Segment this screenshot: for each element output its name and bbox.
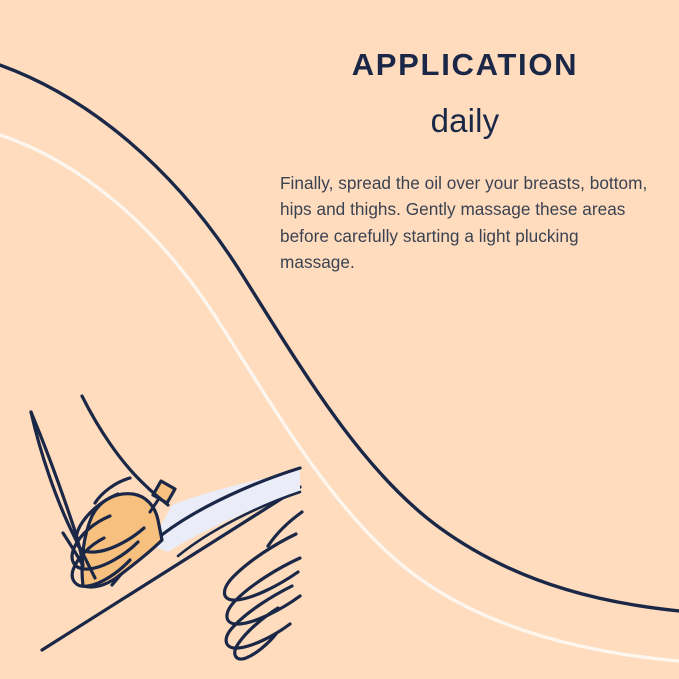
instruction-paragraph: Finally, spread the oil over your breast… <box>280 170 652 275</box>
text-layer: APPLICATION daily Finally, spread the oi… <box>0 0 679 679</box>
page-subtitle: daily <box>280 102 650 140</box>
page-title: APPLICATION <box>280 48 650 82</box>
poster-canvas: APPLICATION daily Finally, spread the oi… <box>0 0 679 679</box>
